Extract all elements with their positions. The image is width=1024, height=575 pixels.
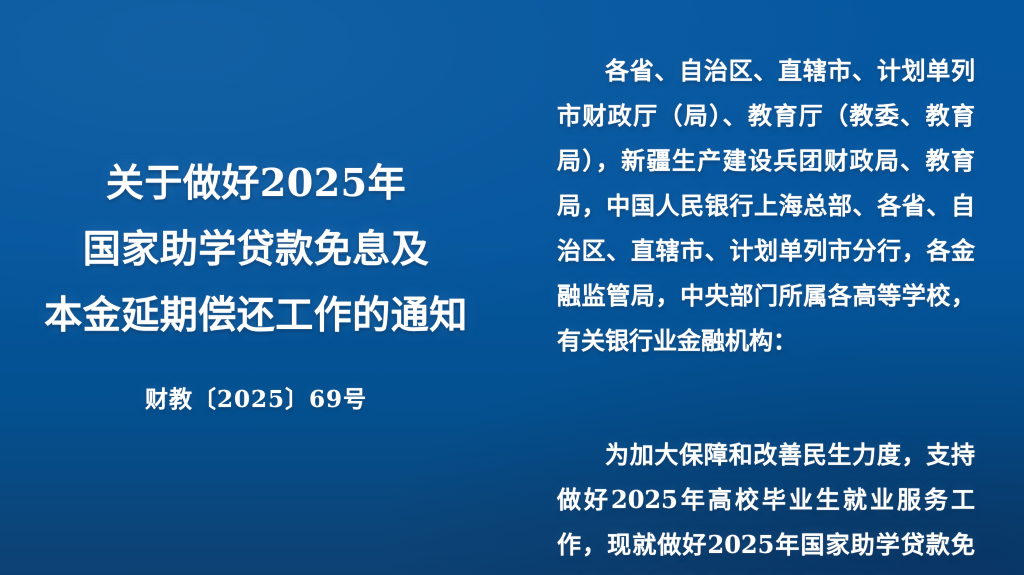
title-line-1: 关于做好2025年: [8, 150, 504, 216]
two-column-layout: 关于做好2025年 国家助学贷款免息及 本金延期偿还工作的通知 财教〔2025〕…: [0, 0, 1024, 575]
document-title: 关于做好2025年 国家助学贷款免息及 本金延期偿还工作的通知 财教〔2025〕…: [8, 150, 504, 416]
title-line-3: 本金延期偿还工作的通知: [8, 282, 504, 348]
body-column: 各省、自治区、直辖市、计划单列市财政厅（局）、教育厅（教委、教育局），新疆生产建…: [512, 0, 1024, 575]
body-paragraph-addressees: 各省、自治区、直辖市、计划单列市财政厅（局）、教育厅（教委、教育局），新疆生产建…: [557, 48, 975, 363]
title-line-2: 国家助学贷款免息及: [8, 216, 504, 282]
title-column: 关于做好2025年 国家助学贷款免息及 本金延期偿还工作的通知 财教〔2025〕…: [0, 0, 512, 575]
notice-slide: 关于做好2025年 国家助学贷款免息及 本金延期偿还工作的通知 财教〔2025〕…: [0, 0, 1024, 575]
body-paragraph-purpose: 为加大保障和改善民生力度，支持做好2025年高校毕业生就业服务工作，现就做好20…: [557, 432, 975, 575]
document-number: 财教〔2025〕69号: [8, 384, 504, 416]
